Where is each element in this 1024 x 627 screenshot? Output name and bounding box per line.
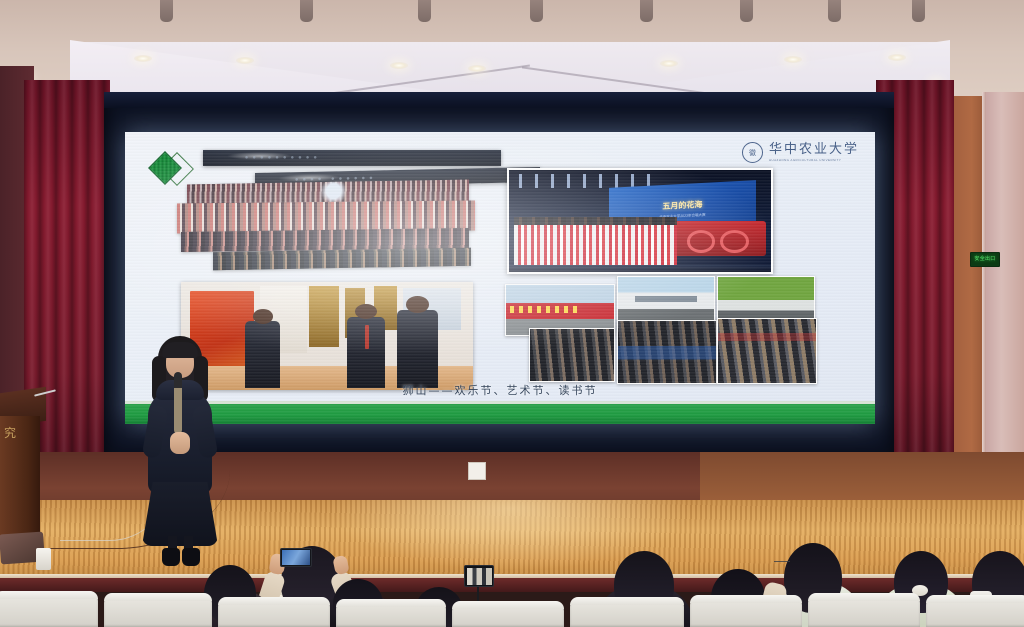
exhibition-figure	[397, 310, 438, 388]
slide-accent-band	[125, 404, 875, 424]
reading-room-photo	[529, 328, 615, 382]
ceiling-downlight	[468, 65, 486, 72]
green-diamond-icon	[151, 154, 191, 182]
university-name-english: HUAZHONG AGRICULTURAL UNIVERSITY	[769, 158, 859, 162]
exit-sign-label: 安全出口	[974, 257, 995, 262]
slide-title-bar-1: ●●●●●●●●●●	[203, 150, 501, 166]
reading-room-photo	[717, 318, 817, 384]
ceiling-downlight	[390, 62, 408, 69]
university-seal-icon: 徽	[742, 142, 763, 163]
audience-seat[interactable]	[690, 595, 802, 627]
auditorium-photo: 安全出口 徽 华中农业大学 HUAZHONG AGRICULTURAL UNIV…	[0, 0, 1024, 627]
audience-seat[interactable]	[218, 597, 330, 627]
presentation-slide: 徽 华中农业大学 HUAZHONG AGRICULTURAL UNIVERSIT…	[125, 132, 875, 424]
handheld-microphone	[174, 372, 182, 434]
reading-room-photo	[617, 320, 717, 384]
audience-seat[interactable]	[0, 591, 98, 627]
wall-outlet-plate	[468, 462, 486, 480]
ceiling-downlight	[134, 55, 152, 62]
ceiling-downlight	[888, 54, 906, 61]
crowd-panorama-photo	[213, 248, 471, 271]
exhibition-figure	[245, 321, 280, 388]
audience-seat[interactable]	[452, 601, 564, 627]
ceiling-downlight	[784, 56, 802, 63]
screen-top-bar	[104, 92, 894, 108]
university-name: 华中农业大学	[769, 143, 859, 156]
audience	[0, 520, 1024, 627]
university-logo: 徽 华中农业大学 HUAZHONG AGRICULTURAL UNIVERSIT…	[742, 142, 859, 163]
audience-seat[interactable]	[104, 593, 212, 627]
lectern-character: 究	[4, 424, 16, 441]
choir-performance-photo: 五月的花海 华中农业大学2023年合唱大赛	[507, 168, 773, 274]
choir-screen-title: 五月的花海	[662, 199, 702, 212]
audience-seat[interactable]	[336, 599, 446, 627]
exit-sign: 安全出口	[970, 252, 1000, 267]
exhibition-figure	[347, 317, 385, 388]
slide-caption: 狮山——欢乐节、艺术节、读书节	[125, 382, 875, 398]
ceiling-speaker-slats	[0, 0, 1024, 26]
ceiling-downlight	[236, 57, 254, 64]
recording-phone[interactable]	[280, 548, 312, 567]
ceiling-downlight	[660, 60, 678, 67]
audience-seat[interactable]	[570, 597, 684, 627]
audience-seat[interactable]	[926, 595, 1024, 627]
audience-seat[interactable]	[808, 593, 920, 627]
